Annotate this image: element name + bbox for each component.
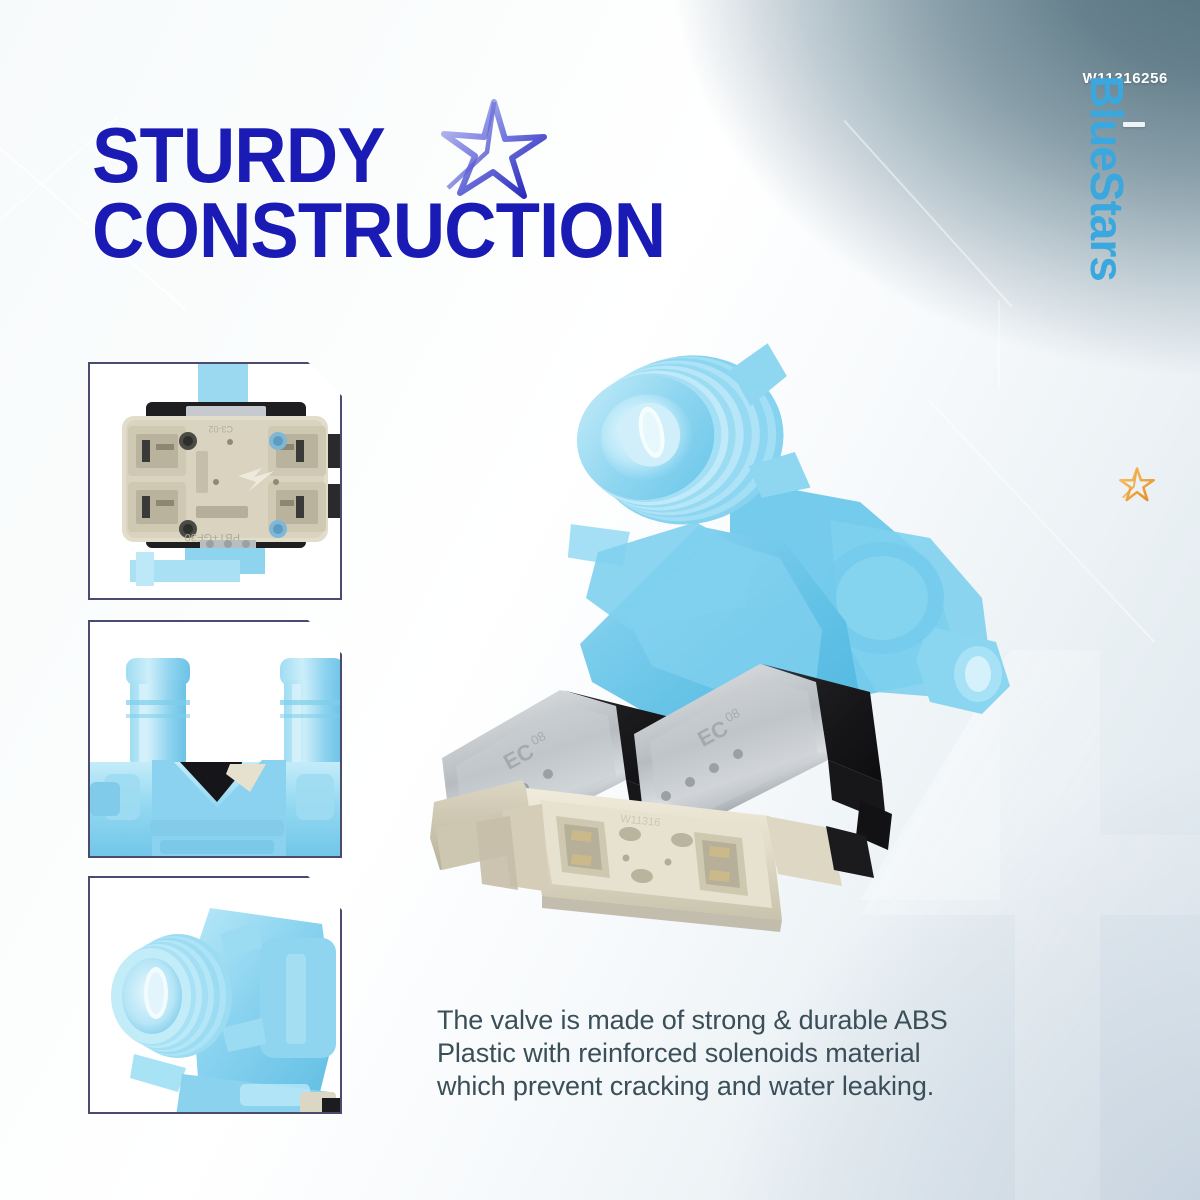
page-title-line2: CONSTRUCTION xyxy=(92,193,665,268)
solenoid-terminal-block-image: C3-02 PBT+GF30 xyxy=(90,364,340,598)
thumbnail-threaded-inlet-port[interactable] xyxy=(88,876,342,1114)
decorative-line xyxy=(844,120,1013,307)
brand-logo: BlueStars xyxy=(1100,178,1160,498)
poster-canvas: W11316256 BlueStars xyxy=(0,0,1200,1200)
brand-name-primary: Blue xyxy=(1081,75,1133,171)
page-title-line1: STURDY xyxy=(92,118,665,193)
description-line1: The valve is made of strong & durable AB… xyxy=(437,1004,1037,1037)
description-line3: which prevent cracking and water leaking… xyxy=(437,1070,1037,1103)
dual-solenoid-water-inlet-valve-image: EC 08 EC 08 xyxy=(430,330,1020,970)
description-text: The valve is made of strong & durable AB… xyxy=(437,1004,1037,1104)
page-title: STURDY CONSTRUCTION xyxy=(92,118,708,268)
thumbnail-dual-outlet-ports[interactable] xyxy=(88,620,342,858)
brand-name-secondary: Stars xyxy=(1081,171,1133,281)
thumbnail-solenoid-terminal-block[interactable]: C3-02 PBT+GF30 xyxy=(88,362,342,600)
threaded-inlet-port-image xyxy=(90,878,340,1112)
description-line2: Plastic with reinforced solenoids materi… xyxy=(437,1037,1037,1070)
svg-text:C3-02: C3-02 xyxy=(208,424,233,434)
star-icon xyxy=(1118,466,1156,504)
dual-outlet-ports-image xyxy=(90,622,340,856)
